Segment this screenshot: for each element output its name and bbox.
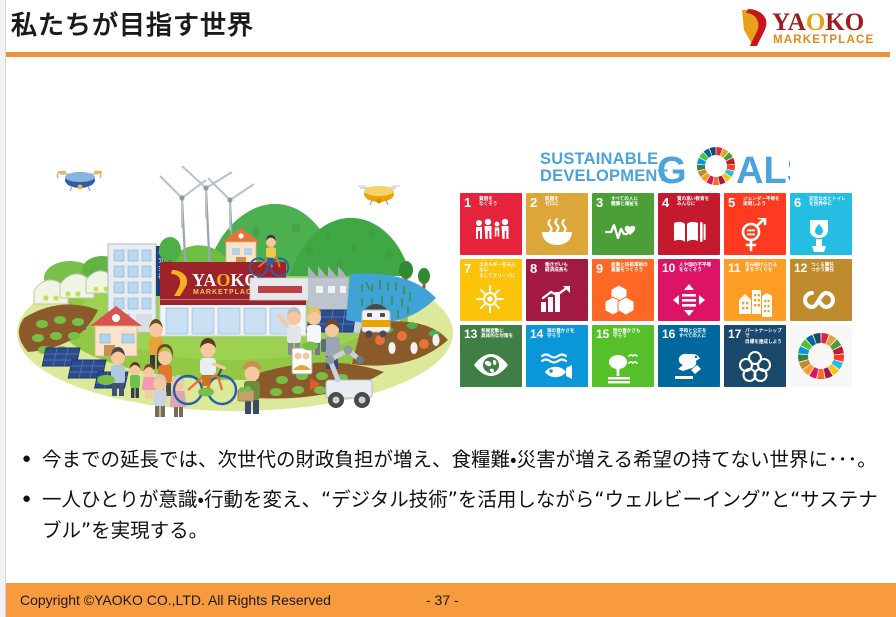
svg-text:YAOKO: YAOKO [772,9,864,36]
sdg-goal-grid: 1貧困を なくそう2飢餓を ゼロに3すべての人に 健康と福祉を4質の高い教育を … [460,193,852,387]
header-orange-rule [6,52,890,57]
sdg-goal-label: 住み続けられる まちづくりを [745,263,784,274]
sdg-goal-number: 1 [464,196,471,209]
sdg-goal-label: すべての人に 健康と福祉を [611,197,652,208]
sdg-goal-tile-5[interactable]: 5ジェンダー平等を 実現しよう [724,193,786,255]
gender-equality-icon [724,218,786,252]
bullet-list: ●今までの延長では、次世代の財政負担が増え、食糧難・災害が増える希望の持てない世… [22,444,884,555]
svg-text:MARKETPLACE: MARKETPLACE [773,34,874,46]
sdg-goal-number: 12 [794,262,807,275]
sdg-goal-label: 飢餓を ゼロに [545,197,586,208]
bullet-item: ●今までの延長では、次世代の財政負担が増え、食糧難・災害が増える希望の持てない世… [22,444,884,475]
sdg-goal-number: 6 [794,196,801,209]
sdg-goal-label: 働きがいも 経済成長も [545,263,586,274]
yaoko-logo: YAOKO MARKETPLACE [738,4,888,48]
water-drop-icon [790,218,852,252]
sdg-goal-number: 15 [596,328,609,341]
bullet-marker-icon: ● [22,444,42,474]
steaming-bowl-icon [526,218,588,252]
sdg-goal-number: 5 [728,196,735,209]
sdg-panel: SUSTAINABLE DEVELOPMENT G ALS 1貧困を なくそう2… [455,142,887,400]
slide-left-rail [0,0,6,617]
heartbeat-icon [592,218,654,252]
family-group-icon [460,218,522,252]
sdg-goal-label: 産業と技術革新の 基盤をつくろう [611,263,652,274]
sdg-goal-tile-8[interactable]: 8働きがいも 経済成長も [526,259,588,321]
page-title: 私たちが目指す世界 [11,9,254,43]
svg-text:MARKETPLACE: MARKETPLACE [193,289,258,296]
sdg-goal-tile-6[interactable]: 6安全な水とトイレ を世界中に [790,193,852,255]
sdg-goal-label: 安全な水とトイレ を世界中に [809,197,850,208]
sdg-goal-number: 7 [464,262,471,275]
sdg-goal-number: 17 [728,328,741,341]
slide-root: 私たちが目指す世界 YAOKO MARKETPLACE [0,0,896,617]
svg-text:ALS: ALS [736,150,790,192]
open-book-icon [658,218,720,252]
sdg-goal-label: 人や国の不平等 をなくそう [679,263,718,274]
sdg-goal-number: 16 [662,328,675,341]
bullet-text: 今までの延長では、次世代の財政負担が増え、食糧難・災害が増える希望の持てない世界… [42,444,884,475]
sdg-goal-label: パートナーシップで 目標を達成しよう [745,329,784,345]
sdg-goal-number: 2 [530,196,537,209]
dove-gavel-icon [658,350,720,384]
infinity-icon [790,284,852,318]
bullet-item: ●一人ひとりが意識・行動を変え、“デジタル技術”を活用しながら“ウェルビーイング… [22,484,884,546]
sdg-goal-label: 気候変動に 具体的な対策を [481,329,520,340]
sdg-goal-tile-7[interactable]: 7エネルギーをみんなに そしてクリーンに [460,259,522,321]
sdg-goal-label: 質の高い教育を みんなに [677,197,718,208]
sdg-goal-tile-4[interactable]: 4質の高い教育を みんなに [658,193,720,255]
slide-footer: Copyright ©YAOKO CO.,LTD. All Rights Res… [0,583,896,617]
bullet-marker-icon: ● [22,484,42,514]
sun-power-icon [460,284,522,318]
sdg-goal-tile-10[interactable]: 10人や国の不平等 をなくそう [658,259,720,321]
sdg-goal-tile-13[interactable]: 13気候変動に 具体的な対策を [460,325,522,387]
sdg-goal-label: エネルギーをみんなに そしてクリーンに [479,263,520,279]
sdg-goal-number: 4 [662,196,669,209]
sdg-goal-tile-11[interactable]: 11住み続けられる まちづくりを [724,259,786,321]
page-number: - 37 - [426,591,459,609]
eye-earth-icon [460,350,522,384]
sdg-goal-label: つくる責任 つかう責任 [811,263,850,274]
tree-birds-icon [592,350,654,384]
growth-chart-icon [526,284,588,318]
sdg-logo: SUSTAINABLE DEVELOPMENT G ALS [540,146,790,192]
sdg-goal-tile-9[interactable]: 9産業と技術革新の 基盤をつくろう [592,259,654,321]
sdg-goal-number: 13 [464,328,477,341]
sdg-goal-number: 11 [728,262,741,275]
sdg-goal-tile-1[interactable]: 1貧困を なくそう [460,193,522,255]
sdg-goal-label: ジェンダー平等を 実現しよう [743,197,784,208]
interlocking-rings-icon [724,350,786,384]
sdg-goal-tile-14[interactable]: 14海の豊かさを 守ろう [526,325,588,387]
sdg-goal-tile-16[interactable]: 16平和と公正を すべての人に [658,325,720,387]
bullet-text: 一人ひとりが意識・行動を変え、“デジタル技術”を活用しながら“ウェルビーイング”… [42,484,884,546]
svg-text:G: G [657,150,687,192]
sdg-goal-number: 8 [530,262,537,275]
cubes-icon [592,284,654,318]
fish-waves-icon [526,350,588,384]
sdg-goal-label: 陸の豊かさも 守ろう [613,329,652,340]
sdg-goal-number: 3 [596,196,603,209]
sdg-goal-label: 海の豊かさを 守ろう [547,329,586,340]
sdg-color-wheel-icon [790,325,852,387]
sdg-goal-number: 14 [530,328,543,341]
sustainable-community-illustration: 株 式 会 社 YAOKO MARKETPLACE [10,158,460,420]
sdg-goal-number: 10 [662,262,675,275]
footer-bar: Copyright ©YAOKO CO.,LTD. All Rights Res… [6,583,896,617]
sdg-goal-tile-2[interactable]: 2飢餓を ゼロに [526,193,588,255]
copyright-text: Copyright ©YAOKO CO.,LTD. All Rights Res… [20,591,331,609]
sdg-goal-tile-17[interactable]: 17パートナーシップで 目標を達成しよう [724,325,786,387]
sdg-goal-number: 9 [596,262,603,275]
sdg-goal-label: 平和と公正を すべての人に [679,329,718,340]
svg-text:YAOKO: YAOKO [192,270,258,290]
svg-text:DEVELOPMENT: DEVELOPMENT [540,167,668,185]
sdg-goal-label: 貧困を なくそう [479,197,520,208]
slide-header: 私たちが目指す世界 YAOKO MARKETPLACE [0,0,896,54]
sdg-goal-tile-15[interactable]: 15陸の豊かさも 守ろう [592,325,654,387]
city-skyline-icon [724,284,786,318]
sdg-goal-tile-12[interactable]: 12つくる責任 つかう責任 [790,259,852,321]
sdg-goal-tile-3[interactable]: 3すべての人に 健康と福祉を [592,193,654,255]
equals-arrows-icon [658,284,720,318]
svg-text:SUSTAINABLE: SUSTAINABLE [540,150,658,168]
